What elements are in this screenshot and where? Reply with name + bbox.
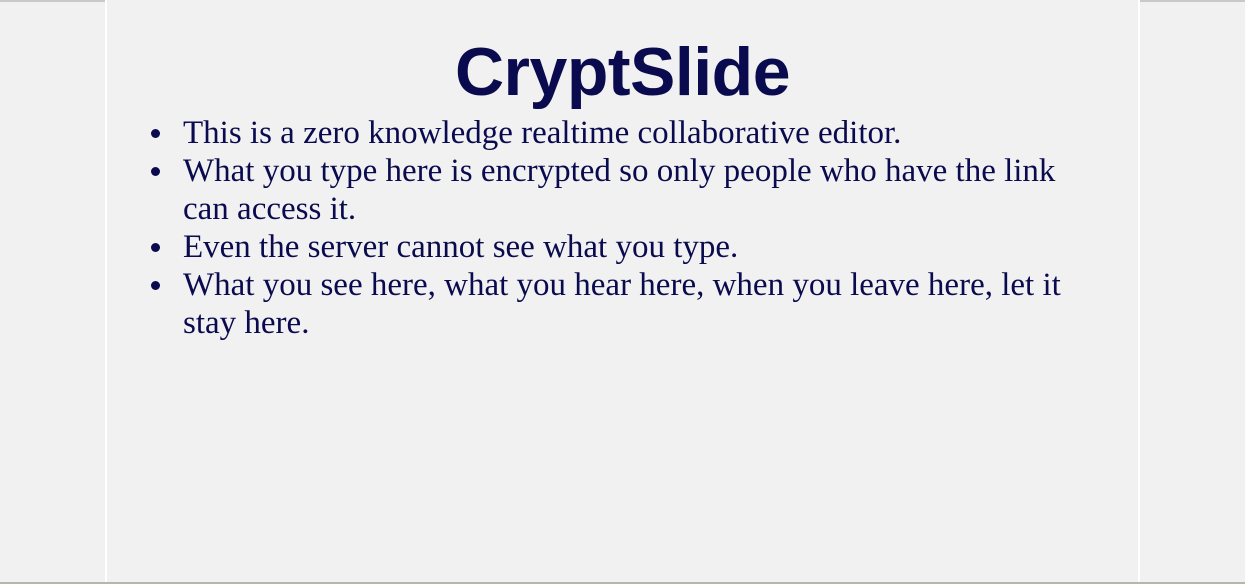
slide-workspace: CryptSlide This is a zero knowledge real… (0, 0, 1245, 584)
slide-body: This is a zero knowledge realtime collab… (145, 114, 1108, 342)
list-item[interactable]: Even the server cannot see what you type… (145, 228, 1108, 266)
bullet-text[interactable]: What you type here is encrypted so only … (183, 152, 1108, 228)
slide-title[interactable]: CryptSlide (107, 38, 1138, 106)
bullet-point-icon (151, 129, 160, 138)
bullet-list: This is a zero knowledge realtime collab… (145, 114, 1108, 342)
bullet-text[interactable]: Even the server cannot see what you type… (183, 228, 1108, 266)
bullet-point-icon (151, 281, 160, 290)
bullet-text[interactable]: This is a zero knowledge realtime collab… (183, 114, 1108, 152)
list-item[interactable]: What you type here is encrypted so only … (145, 152, 1108, 228)
slide-content-area: CryptSlide This is a zero knowledge real… (107, 0, 1138, 584)
bullet-point-icon (151, 167, 160, 176)
list-item[interactable]: This is a zero knowledge realtime collab… (145, 114, 1108, 152)
list-item[interactable]: What you see here, what you hear here, w… (145, 266, 1108, 342)
slide-canvas[interactable]: CryptSlide This is a zero knowledge real… (105, 0, 1140, 584)
bullet-point-icon (151, 243, 160, 252)
bullet-text[interactable]: What you see here, what you hear here, w… (183, 266, 1108, 342)
